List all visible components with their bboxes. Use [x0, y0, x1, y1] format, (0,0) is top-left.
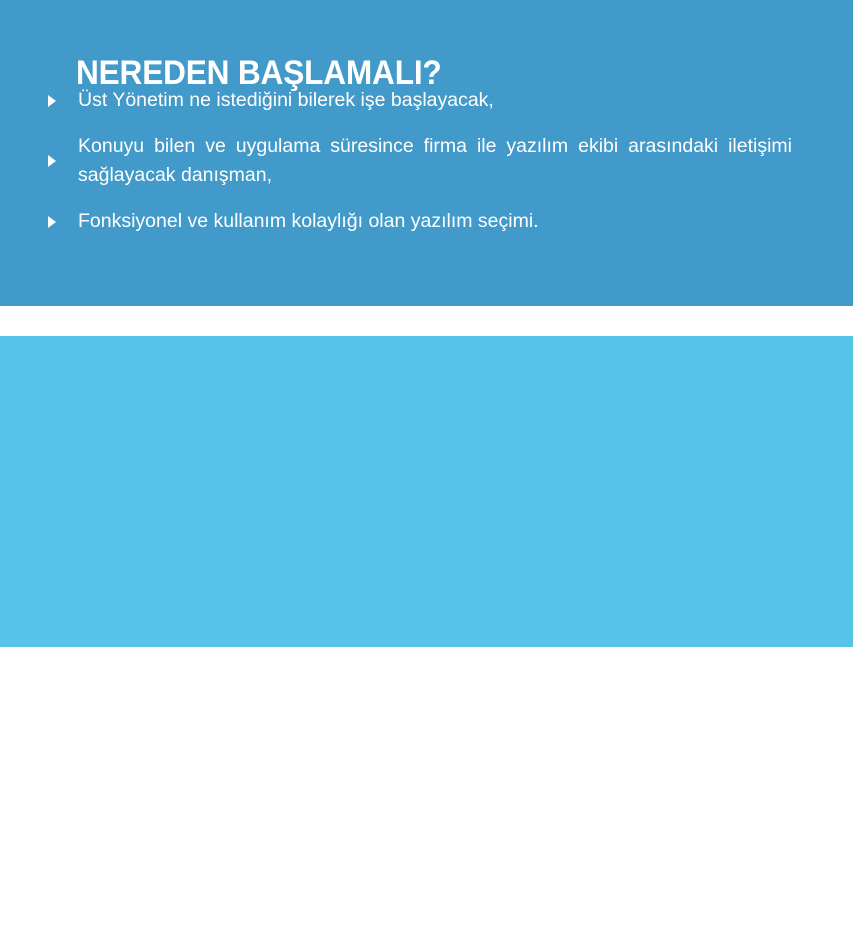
paragraph: KOBİ'lerde en sıkıntılı bölümler; Satış,…	[76, 819, 790, 875]
paragraph: Maliyet Muhasebesi eksenli; Malzeme, İşç…	[76, 894, 790, 950]
top-panel: NEREDEN BAŞLAMALI? Üst Yönetim ne istedi…	[0, 0, 853, 306]
list-item: Konuyu bilen ve uygulama süresince firma…	[46, 132, 794, 190]
list-item: Üst Yönetim ne istediğini bilerek işe ba…	[46, 86, 794, 115]
bottom-panel-heading: NELER İÇERMELİ?	[76, 770, 326, 800]
bottom-panel-paragraphs: KOBİ'lerde en sıkıntılı bölümler; Satış,…	[76, 799, 790, 950]
bottom-panel: NELER İÇERMELİ? KOBİ'lerde en sıkıntılı …	[0, 336, 853, 647]
triangle-right-icon	[48, 95, 56, 107]
slide: NEREDEN BAŞLAMALI? Üst Yönetim ne istedi…	[0, 0, 853, 647]
top-panel-bullet-list: Üst Yönetim ne istediğini bilerek işe ba…	[46, 86, 794, 236]
triangle-right-icon	[48, 155, 56, 167]
bullet-label: Üst Yönetim ne istediğini bilerek işe ba…	[78, 86, 792, 115]
top-panel-heading: NEREDEN BAŞLAMALI?	[76, 56, 442, 90]
bullet-label: Fonksiyonel ve kullanım kolaylığı olan y…	[78, 207, 792, 236]
list-item: Fonksiyonel ve kullanım kolaylığı olan y…	[46, 207, 794, 236]
triangle-right-icon	[48, 216, 56, 228]
bullet-label: Konuyu bilen ve uygulama süresince firma…	[78, 132, 792, 190]
